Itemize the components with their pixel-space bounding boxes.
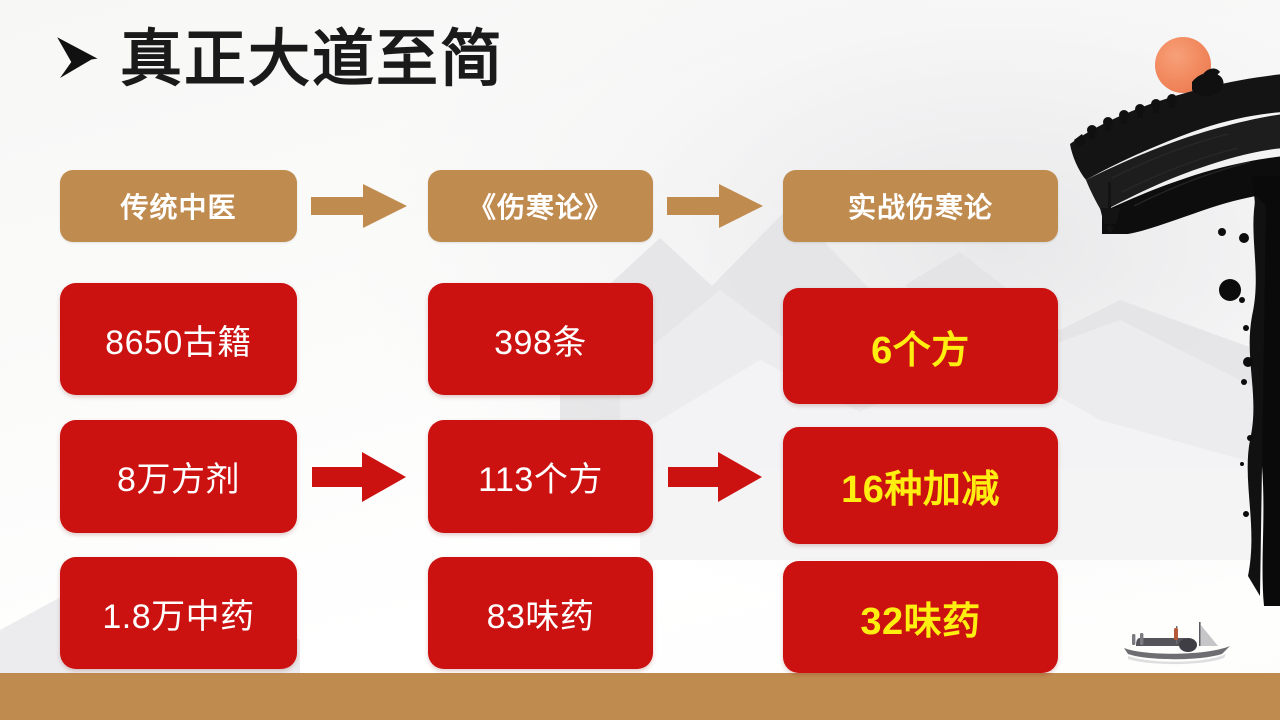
cell-row3-col2[interactable]: 83味药 bbox=[428, 557, 653, 669]
footer-bar bbox=[0, 673, 1280, 720]
row-arrow-1-icon bbox=[312, 452, 406, 502]
cell-row1-col1[interactable]: 8650古籍 bbox=[60, 283, 297, 395]
header-arrow-1-icon bbox=[311, 184, 407, 228]
header-box-2[interactable]: 《伤寒论》 bbox=[428, 170, 653, 242]
header-box-1[interactable]: 传统中医 bbox=[60, 170, 297, 242]
ink-splash-icon bbox=[1186, 176, 1280, 606]
cell-row3-col1[interactable]: 1.8万中药 bbox=[60, 557, 297, 669]
cell-row2-col3[interactable]: 16种加减 bbox=[783, 427, 1058, 544]
slide-canvas: 真正大道至简 传统中医 《伤寒论》 实战伤寒论 8650古籍 398条 6个方 … bbox=[0, 0, 1280, 720]
row-arrow-2-icon bbox=[668, 452, 762, 502]
header-arrow-2-icon bbox=[667, 184, 763, 228]
cell-row1-col3[interactable]: 6个方 bbox=[783, 288, 1058, 404]
cell-row3-col3[interactable]: 32味药 bbox=[783, 561, 1058, 673]
header-box-3[interactable]: 实战伤寒论 bbox=[783, 170, 1058, 242]
page-title: 真正大道至简 bbox=[56, 28, 504, 90]
bullet-arrow-icon bbox=[56, 37, 98, 81]
cell-row1-col2[interactable]: 398条 bbox=[428, 283, 653, 395]
boat-icon bbox=[1118, 614, 1236, 666]
cell-row2-col2[interactable]: 113个方 bbox=[428, 420, 653, 533]
page-title-text: 真正大道至简 bbox=[120, 28, 504, 90]
cell-row2-col1[interactable]: 8万方剂 bbox=[60, 420, 297, 533]
